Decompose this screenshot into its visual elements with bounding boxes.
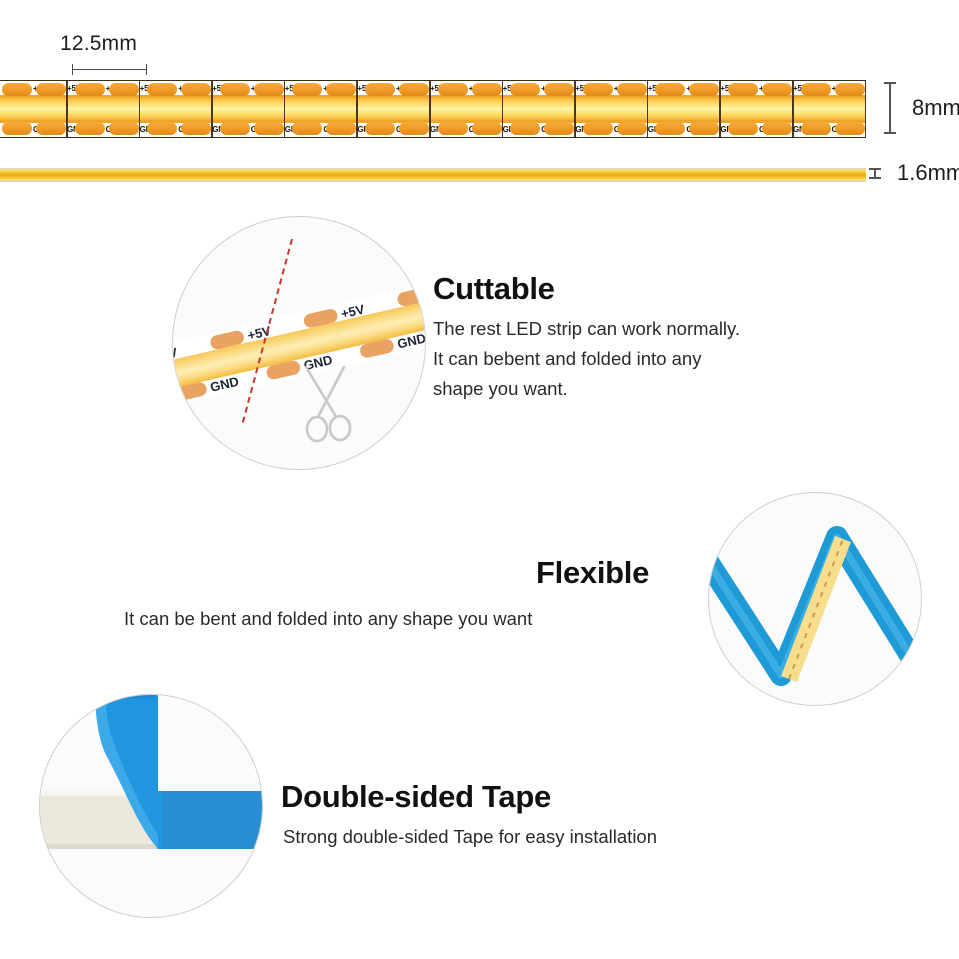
spec-diagram: 12.5mm +5VGND+5VGND+5VGND+5VGND+5VGND+5V… bbox=[0, 0, 959, 210]
pad-positive bbox=[147, 83, 177, 96]
pad-positive bbox=[365, 83, 395, 96]
zigzag-strip-graphic bbox=[709, 493, 921, 705]
width-dimension-bracket bbox=[889, 82, 891, 134]
flexible-feature-image bbox=[708, 492, 922, 706]
pad-ground bbox=[2, 122, 32, 135]
pad-ground bbox=[762, 122, 792, 135]
pad-ground bbox=[544, 122, 574, 135]
pad-ground bbox=[438, 122, 468, 135]
flexible-description: It can be bent and folded into any shape… bbox=[124, 604, 684, 634]
double-sided-tape-feature-image bbox=[39, 694, 263, 918]
pad-positive bbox=[220, 83, 250, 96]
pad-ground bbox=[835, 122, 865, 135]
thickness-dimension-bracket bbox=[874, 168, 876, 179]
cuttable-description-line: shape you want. bbox=[433, 374, 863, 404]
thickness-dimension-label: 1.6mm bbox=[897, 160, 959, 186]
pad-ground bbox=[220, 122, 250, 135]
pad-ground bbox=[75, 122, 105, 135]
pad-positive bbox=[2, 83, 32, 96]
pad-ground bbox=[36, 122, 66, 135]
pad-positive bbox=[583, 83, 613, 96]
pad-ground bbox=[655, 122, 685, 135]
pad-positive bbox=[544, 83, 574, 96]
pad-positive bbox=[438, 83, 468, 96]
pad-positive bbox=[75, 83, 105, 96]
cuttable-title: Cuttable bbox=[433, 271, 555, 307]
cuttable-description: The rest LED strip can work normally. It… bbox=[433, 314, 863, 404]
pad-positive bbox=[36, 83, 66, 96]
double-sided-tape-description: Strong double-sided Tape for easy instal… bbox=[283, 822, 843, 852]
pad-positive bbox=[835, 83, 865, 96]
pad-ground bbox=[326, 122, 356, 135]
pitch-dimension-line bbox=[72, 69, 147, 70]
pad-positive bbox=[801, 83, 831, 96]
tape-peel-graphic bbox=[40, 695, 262, 917]
pad-ground bbox=[147, 122, 177, 135]
pitch-dimension-label: 12.5mm bbox=[60, 32, 137, 56]
pad-ground bbox=[365, 122, 395, 135]
pad-positive bbox=[655, 83, 685, 96]
pad-ground bbox=[399, 122, 429, 135]
pad-ground bbox=[689, 122, 719, 135]
pad-ground bbox=[617, 122, 647, 135]
pad-ground bbox=[254, 122, 284, 135]
pad-ground bbox=[109, 122, 139, 135]
pad-ground bbox=[510, 122, 540, 135]
double-sided-tape-title: Double-sided Tape bbox=[281, 779, 551, 815]
cuttable-description-line: The rest LED strip can work normally. bbox=[433, 314, 863, 344]
width-dimension-label: 8mm bbox=[912, 95, 959, 121]
pad-ground bbox=[292, 122, 322, 135]
pad-positive bbox=[472, 83, 502, 96]
product-feature-infographic: 12.5mm +5VGND+5VGND+5VGND+5VGND+5VGND+5V… bbox=[0, 0, 959, 959]
pad-positive bbox=[510, 83, 540, 96]
pad-positive bbox=[109, 83, 139, 96]
pad-ground bbox=[472, 122, 502, 135]
led-strip-top-view: +5VGND+5VGND+5VGND+5VGND+5VGND+5VGND+5VG… bbox=[0, 80, 866, 138]
pad-positive bbox=[728, 83, 758, 96]
cuttable-feature-image: +5VGND+5VGND+5VGND+5VGND bbox=[172, 216, 426, 470]
pad-ground bbox=[181, 122, 211, 135]
pad-positive bbox=[326, 83, 356, 96]
cuttable-description-line: It can bebent and folded into any bbox=[433, 344, 863, 374]
flexible-title: Flexible bbox=[536, 555, 649, 591]
pad-ground bbox=[583, 122, 613, 135]
scissors-icon bbox=[299, 365, 359, 445]
pad-positive bbox=[181, 83, 211, 96]
pad-positive bbox=[399, 83, 429, 96]
pad-ground bbox=[728, 122, 758, 135]
pad-positive bbox=[617, 83, 647, 96]
pad-positive bbox=[254, 83, 284, 96]
solder-pad-pattern: +5VGND+5VGND+5VGND+5VGND+5VGND+5VGND+5VG… bbox=[0, 81, 866, 137]
pad-ground bbox=[801, 122, 831, 135]
pad-positive bbox=[689, 83, 719, 96]
led-strip-side-view bbox=[0, 168, 866, 182]
pad-positive bbox=[292, 83, 322, 96]
pad-positive bbox=[762, 83, 792, 96]
